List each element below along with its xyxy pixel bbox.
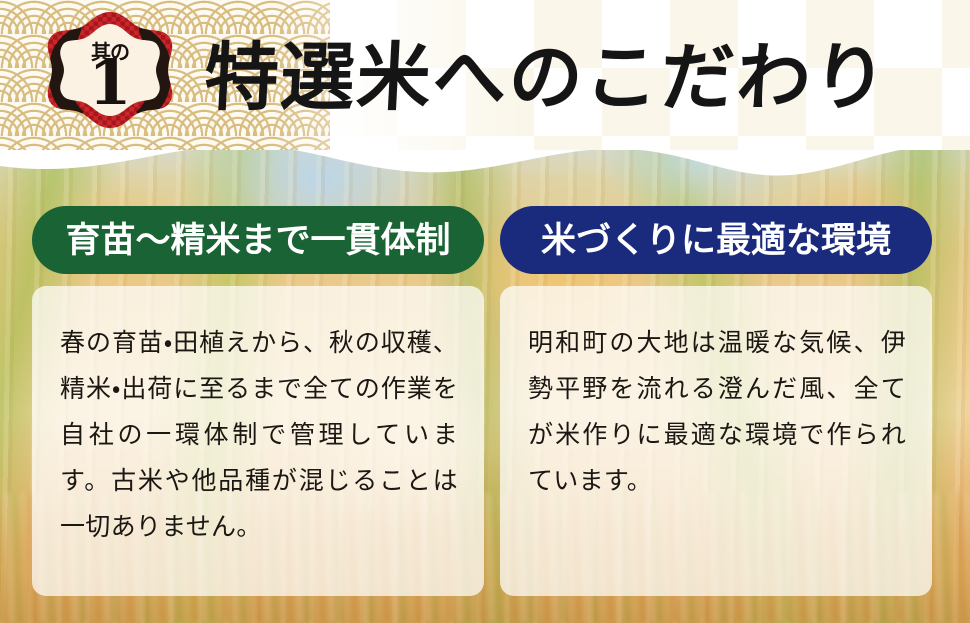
section-heading-label-1: 育苗〜精米まで一貫体制 [65,223,450,258]
banner-header: 其の 1 特選米へのこだわり [0,0,970,150]
section-heading-pill-2: 米づくりに最適な環境 [500,206,932,274]
section-text-card-1: 春の育苗・田植えから、秋の収穫、精米・出荷に至るまで全ての作業を自社の一環体制で… [32,286,484,596]
page-title: 特選米へのこだわり [202,16,948,126]
badge-number-label: 1 [44,52,176,114]
section-heading-pill-1: 育苗〜精米まで一貫体制 [32,206,484,274]
section-body-text-2: 明和町の大地は温暖な気候、伊勢平野を流れる澄んだ風、全てが米作りに最適な環境で作… [528,320,906,504]
section-heading-label-2: 米づくりに最適な環境 [541,223,891,258]
section-text-card-2: 明和町の大地は温暖な気候、伊勢平野を流れる澄んだ風、全てが米作りに最適な環境で作… [500,286,932,596]
promotional-banner: 其の 1 特選米へのこだわり 育苗〜精米まで一貫体制 春の育苗・田植えから、秋の… [0,0,970,623]
step-number-badge: 其の 1 [44,8,176,132]
section-body-text-1: 春の育苗・田植えから、秋の収穫、精米・出荷に至るまで全ての作業を自社の一環体制で… [60,320,458,550]
